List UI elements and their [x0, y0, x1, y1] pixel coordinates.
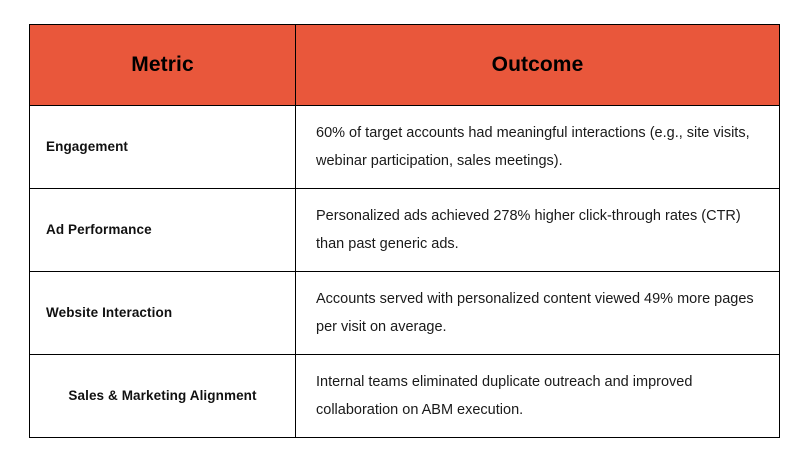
cell-outcome: 60% of target accounts had meaningful in…	[296, 106, 780, 189]
column-header-outcome: Outcome	[296, 25, 780, 106]
cell-outcome: Personalized ads achieved 278% higher cl…	[296, 189, 780, 272]
table-row: Website Interaction Accounts served with…	[30, 272, 780, 355]
column-header-metric: Metric	[30, 25, 296, 106]
cell-metric: Engagement	[30, 106, 296, 189]
table-header-row: Metric Outcome	[30, 25, 780, 106]
table-row: Engagement 60% of target accounts had me…	[30, 106, 780, 189]
cell-metric: Ad Performance	[30, 189, 296, 272]
table-header: Metric Outcome	[30, 25, 780, 106]
table-row: Sales & Marketing Alignment Internal tea…	[30, 355, 780, 438]
abm-results-table: Metric Outcome Engagement 60% of target …	[29, 24, 780, 438]
cell-outcome: Internal teams eliminated duplicate outr…	[296, 355, 780, 438]
table-row: Ad Performance Personalized ads achieved…	[30, 189, 780, 272]
cell-metric: Website Interaction	[30, 272, 296, 355]
cell-metric: Sales & Marketing Alignment	[30, 355, 296, 438]
cell-outcome: Accounts served with personalized conten…	[296, 272, 780, 355]
table-body: Engagement 60% of target accounts had me…	[30, 106, 780, 438]
page-root: Metric Outcome Engagement 60% of target …	[0, 0, 809, 464]
